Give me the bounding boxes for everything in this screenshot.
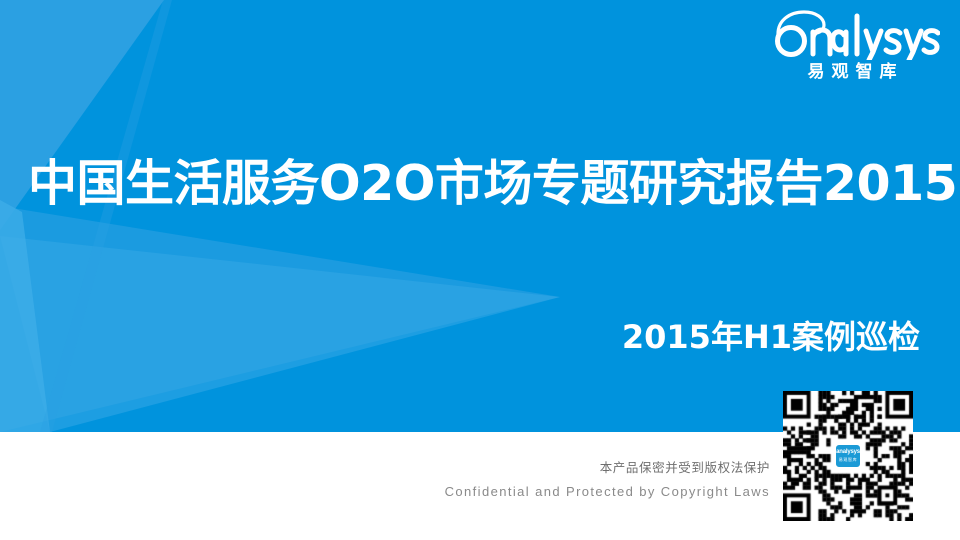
- qr-badge-chinese: 易观智库: [836, 457, 860, 463]
- qr-badge-wordmark: analysys: [836, 448, 860, 457]
- copyright-chinese: 本产品保密并受到版权法保护: [0, 458, 770, 478]
- page-title: 中国生活服务O2O市场专题研究报告2015: [28, 154, 928, 214]
- analysys-logo: 易观智库: [762, 8, 942, 83]
- analysys-wordmark-icon: [764, 8, 940, 60]
- copyright-footer: 本产品保密并受到版权法保护 Confidential and Protected…: [0, 458, 770, 502]
- copyright-english: Confidential and Protected by Copyright …: [0, 482, 770, 502]
- qr-code[interactable]: analysys 易观智库: [783, 391, 913, 521]
- qr-center-logo-badge: analysys 易观智库: [834, 443, 862, 469]
- title-slide: 易观智库 中国生活服务O2O市场专题研究报告2015 2015年H1案例巡检 本…: [0, 0, 960, 540]
- logo-chinese-name: 易观智库: [762, 61, 942, 83]
- page-subtitle: 2015年H1案例巡检: [622, 316, 920, 358]
